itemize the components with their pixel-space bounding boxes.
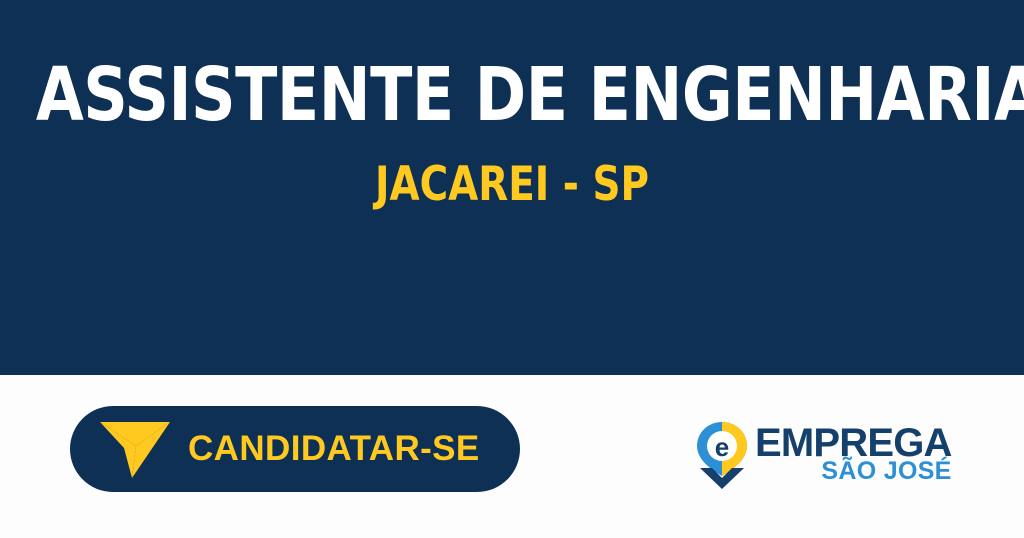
map-pin-icon: e <box>694 420 750 490</box>
svg-text:e: e <box>715 432 729 462</box>
job-posting-card: ASSISTENTE DE ENGENHARIA JACAREI - SP CA… <box>0 0 1024 538</box>
banner: ASSISTENTE DE ENGENHARIA JACAREI - SP <box>0 0 1024 375</box>
apply-button[interactable]: CANDIDATAR-SE <box>70 406 520 492</box>
page-title: ASSISTENTE DE ENGENHARIA <box>36 58 988 132</box>
send-paper-plane-icon <box>98 418 172 480</box>
apply-button-label: CANDIDATAR-SE <box>188 429 480 469</box>
brand-wordmark: EMPREGA SÃO JOSÉ <box>755 420 952 484</box>
brand-logo[interactable]: e EMPREGA SÃO JOSÉ <box>694 420 922 492</box>
job-location-subtitle: JACAREI - SP <box>41 161 983 208</box>
brand-city: SÃO JOSÉ <box>821 459 951 484</box>
